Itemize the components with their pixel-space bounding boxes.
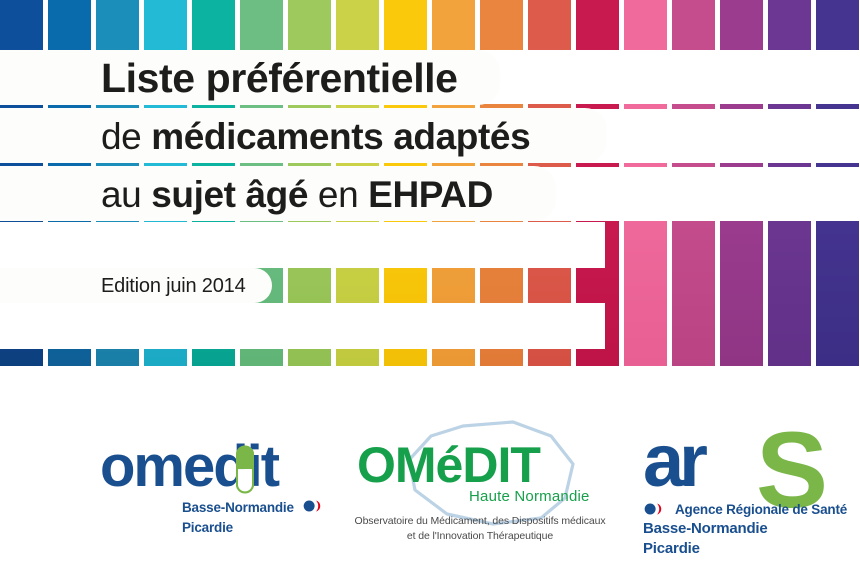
omedit-region-line-2: Picardie [182,520,233,535]
ars-subtitle: Agence Régionale de Santé [675,502,847,517]
logo-omedit: omedit Basse-Normandie Picardie [100,438,325,538]
title-line-3-bold: sujet âgé [151,174,308,215]
logo-omedit-haute-normandie: OMéDIT Haute Normandie Observatoire du M… [345,424,615,544]
capsule-icon [236,444,254,495]
cover-page: Liste préférentielle de médicaments adap… [0,0,860,571]
title-line-1: Liste préférentielle [101,58,458,99]
ars-region-line-1: Basse-Normandie [643,520,768,537]
french-republic-mark-icon [643,503,671,515]
title-line-3-bold-2: EHPAD [368,174,493,215]
edition-label: Edition juin 2014 [101,275,246,298]
title-line-3-light: au [101,174,151,215]
stripe-cutout-5 [0,303,605,349]
title-line-2-light: de [101,116,151,157]
title-line-3-light-2: en [308,174,368,215]
omedit-hn-wordmark: OMéDIT [357,440,540,490]
omedit-region-line-1: Basse-Normandie [182,500,294,515]
title-line-2-bold: médicaments adaptés [151,116,530,157]
logo-ars: S ar Agence Régionale de Santé Basse-Nor… [635,424,850,544]
stripe-cutout-4 [0,222,605,268]
omedit-hn-subtitle-line-2: et de l'Innovation Thérapeutique [345,529,615,544]
ars-ar-letters: ar [643,424,703,498]
omedit-hn-region: Haute Normandie [469,488,590,505]
french-republic-mark-icon [302,500,330,512]
title-line-2: de médicaments adaptés [101,118,530,155]
title-line-3: au sujet âgé en EHPAD [101,176,493,213]
ars-region-line-2: Picardie [643,540,700,557]
omedit-hn-subtitle-line-1: Observatoire du Médicament, des Disposit… [345,514,615,529]
logo-row: omedit Basse-Normandie Picardie [0,366,860,571]
